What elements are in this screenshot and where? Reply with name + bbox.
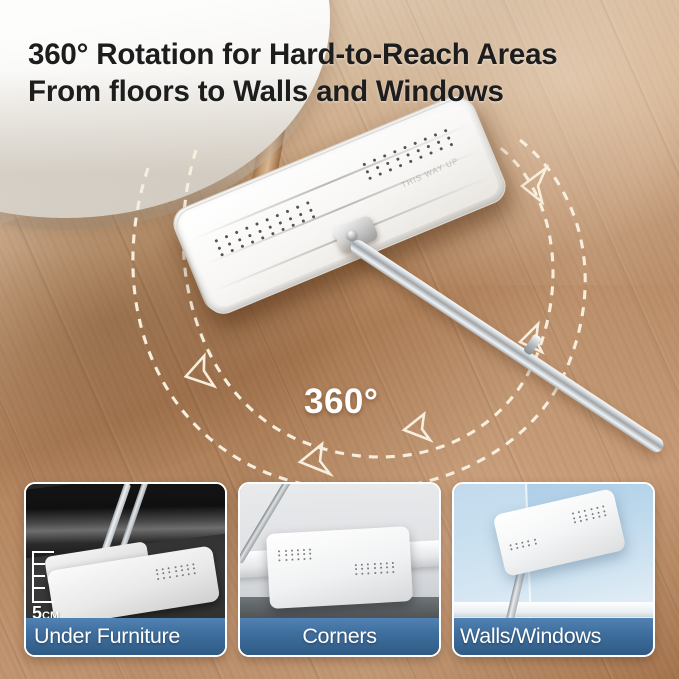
window-sill bbox=[454, 602, 653, 617]
perforation-hole bbox=[584, 510, 586, 512]
mop-handle-pole bbox=[348, 237, 666, 455]
perforation-hole bbox=[297, 554, 299, 556]
perforation-hole bbox=[227, 242, 231, 246]
perforation-hole bbox=[365, 169, 369, 173]
perforation-hole bbox=[386, 571, 388, 573]
headline-line-1: 360° Rotation for Hard-to-Reach Areas bbox=[28, 38, 558, 71]
perforation-hole bbox=[258, 229, 262, 233]
perforation-hole bbox=[572, 513, 574, 515]
perforation-hole bbox=[303, 549, 305, 551]
perforation-hole bbox=[392, 571, 394, 573]
perforation-hole bbox=[386, 161, 390, 165]
perforation-hole bbox=[434, 133, 438, 137]
perforation-hole bbox=[168, 571, 170, 573]
perforation-hole bbox=[278, 550, 280, 552]
perforation-hole bbox=[248, 233, 252, 237]
perforation-hole bbox=[516, 547, 518, 549]
feature-panel-under-furniture[interactable]: 5CM Under Furniture bbox=[24, 482, 227, 657]
perforation-hole bbox=[175, 574, 177, 576]
perforation-hole bbox=[187, 568, 189, 570]
perforation-hole bbox=[309, 553, 311, 555]
perforation-hole bbox=[597, 511, 599, 513]
perforation-hole bbox=[602, 506, 604, 508]
perforation-hole bbox=[413, 141, 417, 145]
feature-panel-corners[interactable]: Corners bbox=[238, 482, 441, 657]
perforation-hole bbox=[603, 510, 605, 512]
perforation-hole bbox=[590, 508, 592, 510]
perforation-hole bbox=[275, 214, 279, 218]
perforation-hole bbox=[598, 516, 600, 518]
perforation-hole bbox=[309, 548, 311, 550]
perforation-hole bbox=[586, 519, 588, 521]
perforation-hole bbox=[596, 507, 598, 509]
product-feature-image: .dash { fill:none; stroke:#f7eedd; strok… bbox=[0, 0, 679, 679]
perforation-hole bbox=[174, 570, 176, 572]
perforation-hole bbox=[180, 564, 182, 566]
height-measure-bracket bbox=[32, 551, 54, 603]
perforation-hole bbox=[592, 517, 594, 519]
perforation-hole bbox=[291, 554, 293, 556]
perforation-hole bbox=[375, 165, 379, 169]
panel2-mop-holes-left bbox=[278, 548, 312, 561]
perforation-hole bbox=[156, 573, 158, 575]
perforation-hole bbox=[374, 572, 376, 574]
perforation-hole bbox=[192, 562, 194, 564]
perforation-hole bbox=[361, 568, 363, 570]
perforation-hole bbox=[157, 577, 159, 579]
mop-handle-telescoping-joint bbox=[523, 333, 542, 355]
perforation-hole bbox=[194, 571, 196, 573]
panel-label-walls-windows: Walls/Windows bbox=[454, 618, 653, 655]
perforation-hole bbox=[245, 226, 249, 230]
panel-label-under-furniture: Under Furniture bbox=[26, 618, 225, 655]
perforation-hole bbox=[355, 568, 357, 570]
perforation-hole bbox=[386, 562, 388, 564]
perforation-hole bbox=[527, 540, 529, 542]
perforation-hole bbox=[361, 563, 363, 565]
perforation-hole bbox=[591, 513, 593, 515]
perforation-hole bbox=[168, 566, 170, 568]
perforation-hole bbox=[396, 157, 400, 161]
perforation-hole bbox=[361, 573, 363, 575]
perforation-hole bbox=[285, 559, 287, 561]
perforation-hole bbox=[279, 559, 281, 561]
perforation-hole bbox=[217, 246, 221, 250]
perforation-hole bbox=[426, 144, 430, 148]
perforation-hole bbox=[225, 235, 229, 239]
perforation-hole bbox=[573, 517, 575, 519]
perforation-hole bbox=[416, 148, 420, 152]
perforation-hole bbox=[278, 221, 282, 225]
perforation-hole bbox=[580, 520, 582, 522]
feature-panel-row: 5CM Under Furniture Corners bbox=[24, 482, 655, 657]
perforation-hole bbox=[296, 205, 300, 209]
perforation-hole bbox=[291, 558, 293, 560]
panel-label-corners: Corners bbox=[240, 618, 439, 655]
perforation-hole bbox=[373, 563, 375, 565]
perforation-hole bbox=[255, 222, 259, 226]
perforation-hole bbox=[392, 562, 394, 564]
perforation-hole bbox=[534, 543, 536, 545]
perforation-hole bbox=[578, 511, 580, 513]
perforation-hole bbox=[355, 564, 357, 566]
perforation-hole bbox=[380, 567, 382, 569]
perforation-hole bbox=[285, 554, 287, 556]
perforation-hole bbox=[510, 548, 512, 550]
perforation-hole bbox=[423, 137, 427, 141]
perforation-hole bbox=[533, 538, 535, 540]
headline: 360° Rotation for Hard-to-Reach Areas Fr… bbox=[28, 36, 668, 111]
mop-head-plate: THIS WAY UP bbox=[171, 93, 511, 320]
perforation-hole bbox=[174, 565, 176, 567]
perforation-hole bbox=[379, 562, 381, 564]
perforation-hole bbox=[355, 573, 357, 575]
perforation-hole bbox=[306, 201, 310, 205]
perforation-hole bbox=[309, 208, 313, 212]
mop-head-corner bbox=[266, 526, 413, 609]
perforation-hole bbox=[193, 567, 195, 569]
perforation-hole bbox=[585, 514, 587, 516]
perforation-hole bbox=[297, 549, 299, 551]
perforation-hole bbox=[288, 216, 292, 220]
perforation-hole bbox=[367, 572, 369, 574]
perforation-hole bbox=[373, 158, 377, 162]
perforation-hole bbox=[406, 153, 410, 157]
panel3-mop-holes-left bbox=[509, 538, 537, 550]
perforation-hole bbox=[579, 516, 581, 518]
perforation-hole bbox=[574, 521, 576, 523]
panel1-mop-holes bbox=[155, 562, 195, 579]
perforation-hole bbox=[162, 572, 164, 574]
perforation-hole bbox=[238, 237, 242, 241]
perforation-hole bbox=[447, 136, 451, 140]
perforation-hole bbox=[367, 563, 369, 565]
perforation-hole bbox=[528, 544, 530, 546]
perforation-hole bbox=[181, 569, 183, 571]
perforation-hole bbox=[303, 558, 305, 560]
perforation-hole bbox=[297, 558, 299, 560]
perforation-hole bbox=[214, 239, 218, 243]
perforation-hole bbox=[521, 541, 523, 543]
perforation-hole bbox=[235, 230, 239, 234]
perforation-hole bbox=[522, 546, 524, 548]
perforation-hole bbox=[265, 218, 269, 222]
perforation-hole bbox=[303, 553, 305, 555]
perforation-hole bbox=[393, 150, 397, 154]
perforation-hole bbox=[367, 568, 369, 570]
perforation-hole bbox=[383, 154, 387, 158]
perforation-hole bbox=[268, 225, 272, 229]
perforation-hole bbox=[299, 212, 303, 216]
perforation-hole bbox=[186, 563, 188, 565]
perforation-hole bbox=[310, 557, 312, 559]
perforation-hole bbox=[509, 544, 511, 546]
perforation-hole bbox=[444, 129, 448, 133]
perforation-hole bbox=[291, 549, 293, 551]
perforation-hole bbox=[187, 572, 189, 574]
perforation-hole bbox=[155, 568, 157, 570]
perforation-hole bbox=[278, 555, 280, 557]
perforation-hole bbox=[163, 576, 165, 578]
perforation-hole bbox=[386, 567, 388, 569]
perforation-hole bbox=[162, 567, 164, 569]
perforation-hole bbox=[604, 515, 606, 517]
perforation-hole bbox=[515, 543, 517, 545]
perforation-hole bbox=[436, 140, 440, 144]
perforation-hole bbox=[181, 573, 183, 575]
perforation-hole bbox=[362, 162, 366, 166]
perforation-hole bbox=[373, 567, 375, 569]
perforation-hole bbox=[380, 572, 382, 574]
perforation-hole bbox=[284, 550, 286, 552]
headline-line-2: From floors to Walls and Windows bbox=[28, 73, 668, 110]
perforation-hole bbox=[286, 209, 290, 213]
perforation-hole bbox=[392, 566, 394, 568]
mop-swivel-screw bbox=[347, 230, 357, 240]
feature-panel-walls-windows[interactable]: Walls/Windows bbox=[452, 482, 655, 657]
perforation-hole bbox=[169, 575, 171, 577]
perforation-hole bbox=[403, 146, 407, 150]
panel3-mop-holes-right bbox=[572, 506, 607, 524]
panel2-mop-holes-right bbox=[355, 562, 395, 575]
